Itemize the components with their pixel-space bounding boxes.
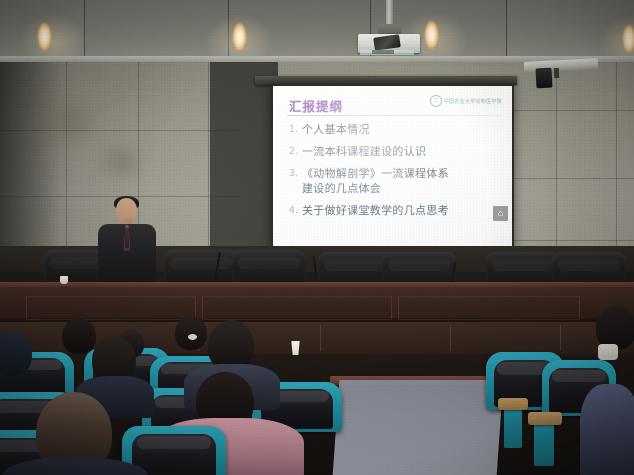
wall-tile-seam — [514, 240, 634, 241]
wall-speaker-arm — [554, 68, 560, 78]
slide-bullet-item-continuation: 建设的几点体会 — [287, 181, 504, 196]
person-shoulders — [580, 384, 634, 475]
person-head — [0, 332, 32, 376]
university-logo: ▽ 中国农业大学动物医学院 — [430, 95, 502, 107]
logo-text: 中国农业大学动物医学院 — [444, 98, 502, 105]
table-front-panel — [26, 296, 196, 320]
projector-label — [372, 50, 394, 54]
slide-bullet-item: 1. 个人基本情况 — [287, 122, 504, 137]
bullet-number: 4. — [287, 203, 298, 218]
wall-tile-seam — [208, 62, 209, 262]
lecture-hall-photo: 汇报提纲 ▽ 中国农业大学动物医学院 1. 个人基本情况 2. 一流本科课程建设… — [0, 0, 634, 475]
slide-bullet-item: 3. 《动物解剖学》一流课程体系 — [287, 166, 504, 181]
wall-tile-seam — [66, 62, 67, 262]
ceiling-seam — [506, 0, 507, 62]
presentation-slide: 汇报提纲 ▽ 中国农业大学动物医学院 1. 个人基本情况 2. 一流本科课程建设… — [273, 86, 512, 250]
slide-bullet-list: 1. 个人基本情况 2. 一流本科课程建设的认识 3. 《动物解剖学》一流课程体… — [287, 122, 504, 225]
screen-recess-wall — [210, 62, 278, 262]
bullet-number: 2. — [287, 144, 298, 159]
ceiling-light-2 — [232, 22, 247, 52]
wall-tile-seam — [514, 178, 634, 179]
wall-speaker — [535, 68, 552, 89]
ceiling — [0, 0, 634, 62]
seat-pedestal — [504, 404, 522, 448]
table-front-panel — [202, 296, 392, 320]
bullet-text: 一流本科课程建设的认识 — [302, 144, 426, 159]
bullet-text: 《动物解剖学》一流课程体系 — [302, 166, 449, 181]
audience-member — [92, 336, 136, 384]
audience-member — [62, 318, 96, 354]
water-cup — [60, 276, 68, 284]
projector-mount-pole — [386, 0, 393, 26]
ceiling-light-3 — [424, 20, 439, 50]
table-front-panel — [398, 296, 580, 320]
audience-member-right-body — [580, 348, 634, 475]
audience-member-foreground — [36, 392, 112, 474]
seat-highlight — [137, 436, 212, 449]
slide-title: 汇报提纲 — [289, 96, 343, 115]
seat-armrest — [498, 398, 528, 410]
bullet-text: 个人基本情况 — [302, 122, 370, 137]
seat-pedestal — [534, 418, 554, 466]
wall-tile-seam — [514, 110, 634, 111]
mask-icon — [598, 344, 618, 360]
slide-bullet-item: 4. 关于做好课堂教学的几点思考 — [287, 203, 504, 218]
presenter-tie — [125, 228, 129, 248]
ceiling-light-1 — [37, 22, 52, 52]
wall-shadow-left — [0, 62, 60, 262]
audience-member-with-hairclip — [176, 318, 208, 348]
slide-title-underline — [287, 115, 501, 116]
logo-emblem-icon: ▽ — [430, 95, 442, 107]
audience-member — [208, 320, 254, 372]
panel-seam — [560, 325, 561, 351]
wall-tile-seam — [616, 62, 617, 262]
projection-screen: 汇报提纲 ▽ 中国农业大学动物医学院 1. 个人基本情况 2. 一流本科课程建设… — [271, 84, 514, 252]
panel-seam — [450, 325, 451, 351]
seat-armrest — [528, 412, 562, 425]
slide-bullet-item: 2. 一流本科课程建设的认识 — [287, 144, 504, 159]
wall-tile-seam — [556, 62, 557, 262]
ceiling-light-4 — [622, 24, 634, 54]
bullet-text: 关于做好课堂教学的几点思考 — [302, 203, 449, 218]
presenter — [96, 198, 158, 286]
panel-seam — [320, 325, 321, 351]
face-mask — [598, 344, 618, 360]
bullet-number: 3. — [287, 166, 298, 181]
bullet-text: 建设的几点体会 — [302, 181, 381, 196]
wall-stain — [96, 140, 148, 184]
center-aisle-floor — [333, 380, 504, 475]
head-table-top — [0, 282, 634, 287]
audience-member-pink — [196, 372, 254, 430]
bullet-number: 1. — [287, 122, 298, 137]
audience-member-left-edge — [0, 332, 32, 376]
slideshow-home-button[interactable]: ⌂ — [493, 206, 508, 221]
hair-clip — [188, 334, 197, 340]
person-head — [62, 318, 96, 354]
